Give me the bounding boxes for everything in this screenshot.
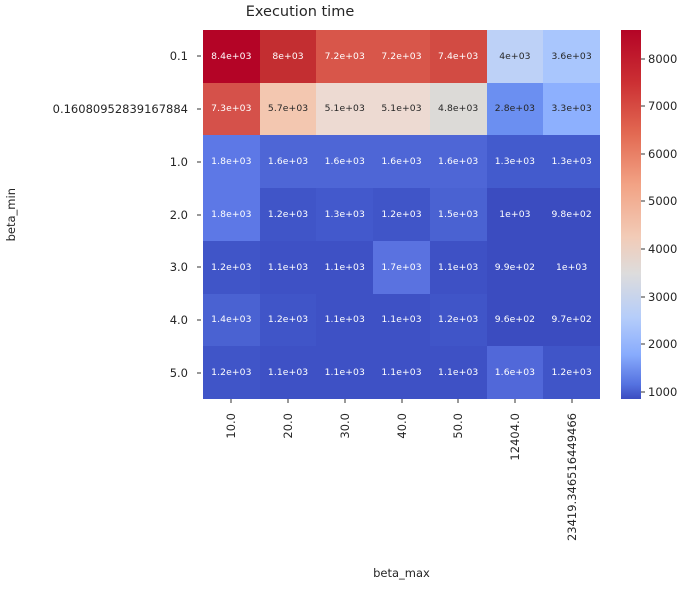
heatmap-cell: 9.9e+02 <box>487 241 544 294</box>
x-tick-label-text: 23419.346516449466 <box>565 413 579 541</box>
x-tick-label: 30.0 <box>338 413 352 439</box>
heatmap-cell: 1.1e+03 <box>260 346 317 399</box>
y-tick-mark <box>197 161 201 162</box>
x-tick-label-text: 12404.0 <box>508 413 522 461</box>
heatmap-cell: 8e+03 <box>260 30 317 83</box>
colorbar-tick-label: 7000 <box>648 99 677 113</box>
colorbar-tick-mark <box>641 344 645 345</box>
x-tick-label: 12404.0 <box>508 413 522 461</box>
x-tick-label-text: 30.0 <box>338 413 352 439</box>
y-tick-label: 1.0 <box>170 155 188 169</box>
heatmap-cell: 4.8e+03 <box>430 83 487 136</box>
heatmap-cell: 1.5e+03 <box>430 188 487 241</box>
heatmap-cell: 1.8e+03 <box>203 135 260 188</box>
x-tick-label: 10.0 <box>224 413 238 439</box>
y-tick-mark <box>197 319 201 320</box>
y-tick-label: 3.0 <box>170 260 188 274</box>
heatmap-cell: 4e+03 <box>487 30 544 83</box>
x-tick-label-text: 10.0 <box>224 413 238 439</box>
x-tick-label-text: 50.0 <box>451 413 465 439</box>
colorbar[interactable]: 80007000600050004000300020001000 <box>621 30 641 399</box>
x-tick-mark <box>401 399 402 403</box>
heatmap-cell: 1.3e+03 <box>487 135 544 188</box>
heatmap-cell: 1.1e+03 <box>260 241 317 294</box>
heatmap-cell: 7.2e+03 <box>316 30 373 83</box>
y-tick-label: 0.1 <box>170 49 188 63</box>
heatmap-cell: 1.6e+03 <box>316 135 373 188</box>
y-tick-mark <box>197 56 201 57</box>
heatmap-cell: 1.2e+03 <box>430 294 487 347</box>
y-tick-label: 4.0 <box>170 313 188 327</box>
heatmap-cell: 1.6e+03 <box>487 346 544 399</box>
heatmap-cell: 1.2e+03 <box>203 346 260 399</box>
y-tick-label: 2.0 <box>170 208 188 222</box>
x-tick-label-text: 40.0 <box>395 413 409 439</box>
heatmap-cell: 5.1e+03 <box>373 83 430 136</box>
heatmap-cell: 5.7e+03 <box>260 83 317 136</box>
y-tick-mark <box>197 372 201 373</box>
heatmap-cell: 1.2e+03 <box>543 346 600 399</box>
colorbar-tick-mark <box>641 58 645 59</box>
heatmap-cell: 2.8e+03 <box>487 83 544 136</box>
heatmap-cell: 1.6e+03 <box>430 135 487 188</box>
heatmap-cell: 1.7e+03 <box>373 241 430 294</box>
colorbar-gradient <box>621 30 641 399</box>
heatmap-cell: 3.3e+03 <box>543 83 600 136</box>
x-tick-mark <box>288 399 289 403</box>
heatmap-cell: 7.4e+03 <box>430 30 487 83</box>
colorbar-tick-mark <box>641 391 645 392</box>
heatmap-cell: 1.4e+03 <box>203 294 260 347</box>
colorbar-tick-label: 2000 <box>648 337 677 351</box>
heatmap-cell: 9.6e+02 <box>487 294 544 347</box>
heatmap-figure: Execution time beta_min 0.10.16080952839… <box>0 0 697 595</box>
heatmap-cell: 1.2e+03 <box>203 241 260 294</box>
x-tick-label: 23419.346516449466 <box>565 413 579 541</box>
y-axis-ticks: 0.10.160809528391678841.02.03.04.05.0 <box>0 30 196 399</box>
heatmap-cell: 1.3e+03 <box>316 188 373 241</box>
heatmap-cell: 1.1e+03 <box>430 346 487 399</box>
heatmap-cell: 5.1e+03 <box>316 83 373 136</box>
heatmap-cell: 1.2e+03 <box>260 188 317 241</box>
heatmap-cell: 1.1e+03 <box>373 346 430 399</box>
heatmap-cell: 1.8e+03 <box>203 188 260 241</box>
heatmap-cell: 1.1e+03 <box>316 294 373 347</box>
x-tick-mark <box>458 399 459 403</box>
heatmap-cell: 1.1e+03 <box>316 241 373 294</box>
heatmap-cell: 1.6e+03 <box>373 135 430 188</box>
x-tick-label: 20.0 <box>281 413 295 439</box>
colorbar-tick-mark <box>641 296 645 297</box>
heatmap-cell: 9.7e+02 <box>543 294 600 347</box>
colorbar-tick-label: 4000 <box>648 242 677 256</box>
heatmap-cell: 1.1e+03 <box>430 241 487 294</box>
x-tick-label: 50.0 <box>451 413 465 439</box>
colorbar-tick-mark <box>641 106 645 107</box>
heatmap-cell: 3.6e+03 <box>543 30 600 83</box>
x-tick-mark <box>514 399 515 403</box>
heatmap-cell: 1.2e+03 <box>373 188 430 241</box>
x-tick-mark <box>344 399 345 403</box>
x-tick-mark <box>571 399 572 403</box>
heatmap-cell: 1.6e+03 <box>260 135 317 188</box>
heatmap-grid: 8.4e+038e+037.2e+037.2e+037.4e+034e+033.… <box>203 30 600 399</box>
x-axis-label: beta_max <box>203 566 600 580</box>
x-axis-ticks: 10.020.030.040.050.012404.023419.3465164… <box>203 399 600 559</box>
heatmap-cell: 1.2e+03 <box>260 294 317 347</box>
heatmap-cell: 1e+03 <box>487 188 544 241</box>
heatmap-cell: 1.1e+03 <box>373 294 430 347</box>
colorbar-tick-label: 5000 <box>648 194 677 208</box>
heatmap-cell: 7.2e+03 <box>373 30 430 83</box>
heatmap-cell: 1e+03 <box>543 241 600 294</box>
x-tick-label-text: 20.0 <box>281 413 295 439</box>
colorbar-tick-mark <box>641 153 645 154</box>
y-tick-label: 0.16080952839167884 <box>53 102 188 116</box>
heatmap-cell: 7.3e+03 <box>203 83 260 136</box>
y-tick-mark <box>197 267 201 268</box>
x-tick-label: 40.0 <box>395 413 409 439</box>
heatmap-cell: 9.8e+02 <box>543 188 600 241</box>
colorbar-tick-mark <box>641 201 645 202</box>
y-tick-mark <box>197 214 201 215</box>
colorbar-tick-label: 8000 <box>648 52 677 66</box>
x-tick-mark <box>231 399 232 403</box>
colorbar-tick-label: 1000 <box>648 385 677 399</box>
y-tick-label: 5.0 <box>170 366 188 380</box>
colorbar-tick-label: 3000 <box>648 290 677 304</box>
colorbar-tick-label: 6000 <box>648 147 677 161</box>
y-tick-mark <box>197 109 201 110</box>
colorbar-tick-mark <box>641 249 645 250</box>
heatmap-cell: 8.4e+03 <box>203 30 260 83</box>
chart-title: Execution time <box>0 4 600 20</box>
heatmap-cell: 1.1e+03 <box>316 346 373 399</box>
heatmap-cell: 1.3e+03 <box>543 135 600 188</box>
